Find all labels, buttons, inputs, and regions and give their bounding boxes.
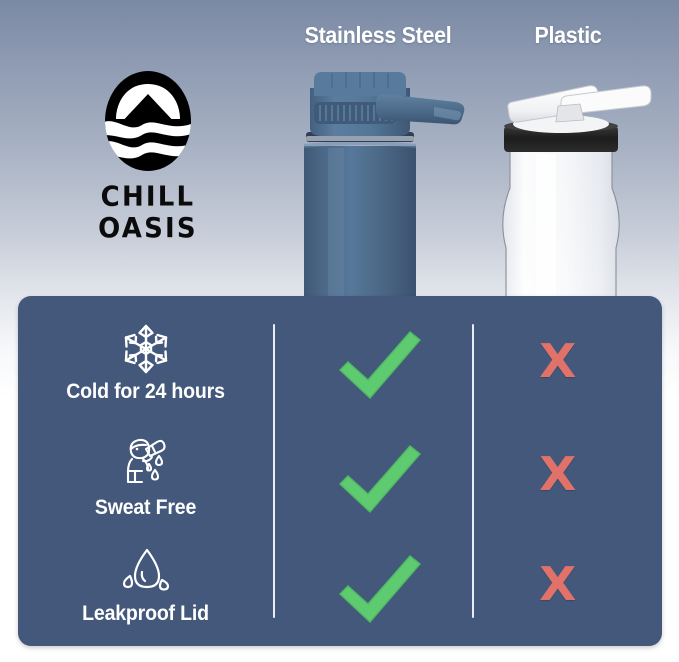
column-divider-2 xyxy=(472,324,474,618)
column-divider-1 xyxy=(273,324,275,618)
brand-name: CHILL OASIS xyxy=(48,182,248,245)
plastic-bottle-image xyxy=(492,78,657,308)
feature-label: Leakproof Lid xyxy=(27,602,264,626)
brand-logo-block: CHILL OASIS xyxy=(48,70,248,243)
mountain-wave-oval-logo-icon xyxy=(104,70,192,172)
comparison-panel: Cold for 24 hours xyxy=(18,296,662,646)
feature-label: Cold for 24 hours xyxy=(27,380,264,404)
snowflake-icon xyxy=(119,322,173,376)
stainless-steel-bottle-image xyxy=(288,66,473,306)
column-heading-plastic: Plastic xyxy=(475,22,661,49)
cross-icon-cold: X xyxy=(539,338,576,384)
sweat-free-icon xyxy=(119,436,173,492)
column-heading-stainless-steel: Stainless Steel xyxy=(276,22,481,49)
cross-icon-leakproof: X xyxy=(539,561,576,607)
check-icon-cold xyxy=(336,330,424,402)
check-icon-sweat xyxy=(336,444,424,516)
feature-row: Sweat Free xyxy=(18,436,273,520)
check-icon-leakproof xyxy=(336,554,424,626)
cross-icon-sweat: X xyxy=(539,451,576,497)
water-drop-icon xyxy=(118,546,174,598)
feature-row: Cold for 24 hours xyxy=(18,322,273,404)
feature-label: Sweat Free xyxy=(27,496,264,520)
feature-row: Leakproof Lid xyxy=(18,546,273,626)
